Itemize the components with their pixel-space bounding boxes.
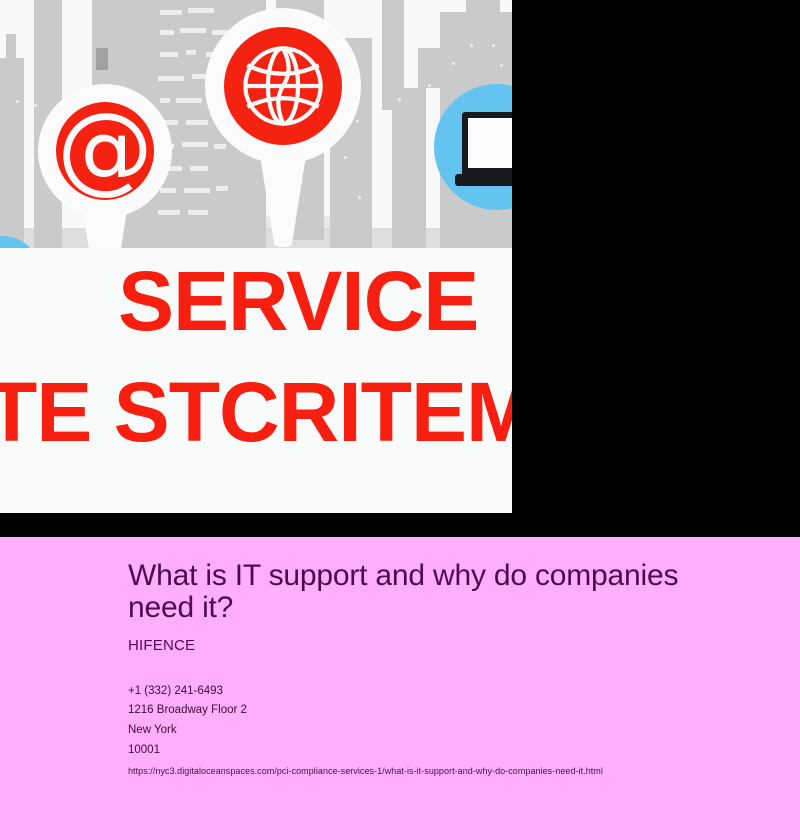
hero-image: @ SERVICE TE STCRITEM: [0, 0, 512, 513]
article-info-panel: What is IT support and why do companies …: [0, 537, 800, 840]
laptop-circle: [434, 84, 512, 210]
contact-phone: +1 (332) 241-6493: [128, 682, 748, 702]
hero-overlay-line-1: SERVICE: [118, 262, 478, 342]
contact-street: 1216 Broadway Floor 2: [128, 701, 748, 721]
at-sign-icon: @: [56, 100, 154, 198]
page-title: What is IT support and why do companies …: [128, 560, 743, 624]
media-letterbox-band: @ SERVICE TE STCRITEM: [0, 0, 800, 537]
at-sign-pin-bubble: @: [38, 84, 172, 218]
contact-city: New York: [128, 721, 748, 741]
info-content: What is IT support and why do companies …: [128, 560, 748, 776]
globe-icon: [236, 39, 330, 133]
contact-postal-code: 10001: [128, 741, 748, 761]
contact-block: +1 (332) 241-6493 1216 Broadway Floor 2 …: [128, 682, 748, 761]
source-url: https://nyc3.digitaloceanspaces.com/pci-…: [128, 766, 748, 777]
hero-overlay-line-2: TE STCRITEM: [0, 373, 512, 453]
laptop-icon: [462, 112, 512, 184]
brand-name: HIFENCE: [128, 637, 748, 654]
globe-pin-bubble: [205, 8, 361, 164]
